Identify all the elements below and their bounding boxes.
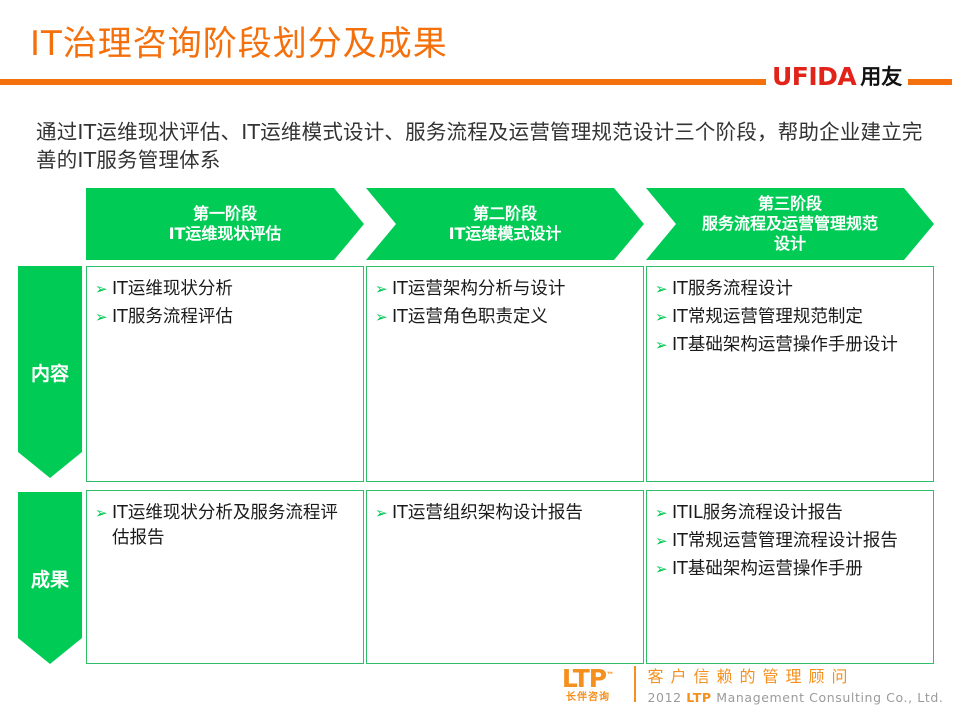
list-item: ➢IT基础架构运营操作手册 [655,557,925,582]
footer-legal-suffix: Management Consulting Co., Ltd. [712,690,944,705]
list-item-label: IT运营组织架构设计报告 [392,503,583,523]
list-item-label: IT基础架构运营操作手册 [672,559,863,579]
cell-content-phase-3: ➢IT服务流程设计 ➢IT常规运营管理规范制定 ➢IT基础架构运营操作手册设计 [646,266,934,482]
bullet-arrow-icon: ➢ [655,529,668,554]
phase-2-line2: IT运维模式设计 [372,224,638,244]
bullet-arrow-icon: ➢ [655,501,668,526]
bullet-arrow-icon: ➢ [655,333,668,358]
list-item-label: IT常规运营管理规范制定 [672,307,863,327]
bullet-arrow-icon: ➢ [375,277,388,302]
list-item-label: IT服务流程设计 [672,279,793,299]
list-item-label: IT运维现状分析及服务流程评估报告 [112,503,338,548]
bullet-arrow-icon: ➢ [655,557,668,582]
list-item: ➢IT运维现状分析及服务流程评估报告 [95,501,355,551]
ltp-logo-cn: 长伴咨询 [548,693,628,703]
bullet-list: ➢ITIL服务流程设计报告 ➢IT常规运营管理流程设计报告 ➢IT基础架构运营操… [655,501,925,582]
list-item: ➢IT运营架构分析与设计 [375,277,635,302]
list-item-label: IT运营角色职责定义 [392,307,548,327]
list-item: ➢ITIL服务流程设计报告 [655,501,925,526]
cell-outcome-phase-1: ➢IT运维现状分析及服务流程评估报告 [86,490,364,664]
header-rule-left [0,79,766,85]
brand-name-cn: 用友 [860,61,902,91]
footer-legal-prefix: 2012 [648,690,687,705]
bullet-arrow-icon: ➢ [375,501,388,526]
phase-1-line1: 第一阶段 [92,204,358,224]
bullet-arrow-icon: ➢ [95,305,108,330]
cell-content-phase-2: ➢IT运营架构分析与设计 ➢IT运营角色职责定义 [366,266,644,482]
list-item-label: IT运维现状分析 [112,279,233,299]
bullet-arrow-icon: ➢ [655,305,668,330]
bullet-arrow-icon: ➢ [655,277,668,302]
phase-header-1: 第一阶段 IT运维现状评估 [86,188,364,260]
list-item: ➢IT运维现状分析 [95,277,355,302]
row-label-content-text: 内容 [31,359,69,386]
list-item-label: IT常规运营管理流程设计报告 [672,531,898,551]
list-item: ➢IT运营角色职责定义 [375,305,635,330]
row-label-outcome: 成果 [18,492,82,664]
phase-3-line2: 服务流程及运营管理规范 [652,214,928,234]
list-item-label: IT运营架构分析与设计 [392,279,565,299]
bullet-list: ➢IT运维现状分析及服务流程评估报告 [95,501,355,551]
cell-content-phase-1: ➢IT运维现状分析 ➢IT服务流程评估 [86,266,364,482]
bullet-list: ➢IT运营架构分析与设计 ➢IT运营角色职责定义 [375,277,635,330]
list-item-label: IT基础架构运营操作手册设计 [672,335,898,355]
bullet-arrow-icon: ➢ [95,277,108,302]
list-item: ➢IT常规运营管理流程设计报告 [655,529,925,554]
footer-text-block: 客户信赖的管理顾问 2012 LTP Management Consulting… [648,663,949,705]
bullet-list: ➢IT服务流程设计 ➢IT常规运营管理规范制定 ➢IT基础架构运营操作手册设计 [655,277,925,358]
list-item: ➢IT服务流程设计 [655,277,925,302]
footer-legal-brand: LTP [686,690,711,705]
footer-slogan: 客户信赖的管理顾问 [648,663,949,687]
header-rule-right [908,79,952,85]
cell-outcome-phase-3: ➢ITIL服务流程设计报告 ➢IT常规运营管理流程设计报告 ➢IT基础架构运营操… [646,490,934,664]
cell-outcome-phase-2: ➢IT运营组织架构设计报告 [366,490,644,664]
list-item-label: ITIL服务流程设计报告 [672,503,843,523]
bullet-list: ➢IT运营组织架构设计报告 [375,501,635,526]
ufida-brand-logo: UFIDA 用友 [772,62,902,90]
footer-legal: 2012 LTP Management Consulting Co., Ltd. [648,690,949,705]
bullet-arrow-icon: ➢ [375,305,388,330]
footer: LTP™ 长伴咨询 客户信赖的管理顾问 2012 LTP Management … [548,660,948,708]
page-title: IT治理咨询阶段划分及成果 [30,24,448,64]
footer-divider [634,666,636,702]
list-item-label: IT服务流程评估 [112,307,233,327]
list-item: ➢IT服务流程评估 [95,305,355,330]
brand-name-en: UFIDA [772,62,856,91]
phase-3-line3: 设计 [652,234,928,254]
ltp-logo: LTP™ 长伴咨询 [548,666,628,703]
ltp-logo-mark: LTP™ [562,666,614,691]
phase-1-line2: IT运维现状评估 [92,224,358,244]
row-label-content: 内容 [18,266,82,478]
ltp-logo-text: LTP [562,664,606,693]
list-item: ➢IT基础架构运营操作手册设计 [655,333,925,358]
phase-header-3: 第三阶段 服务流程及运营管理规范 设计 [646,188,934,260]
list-item: ➢IT运营组织架构设计报告 [375,501,635,526]
phase-3-line1: 第三阶段 [652,194,928,214]
subtitle-text: 通过IT运维现状评估、IT运维模式设计、服务流程及运营管理规范设计三个阶段，帮助… [36,118,926,174]
bullet-arrow-icon: ➢ [95,501,108,526]
row-label-outcome-text: 成果 [31,565,69,592]
phase-header-2: 第二阶段 IT运维模式设计 [366,188,644,260]
list-item: ➢IT常规运营管理规范制定 [655,305,925,330]
phase-2-line1: 第二阶段 [372,204,638,224]
trademark-icon: ™ [606,670,614,679]
bullet-list: ➢IT运维现状分析 ➢IT服务流程评估 [95,277,355,330]
